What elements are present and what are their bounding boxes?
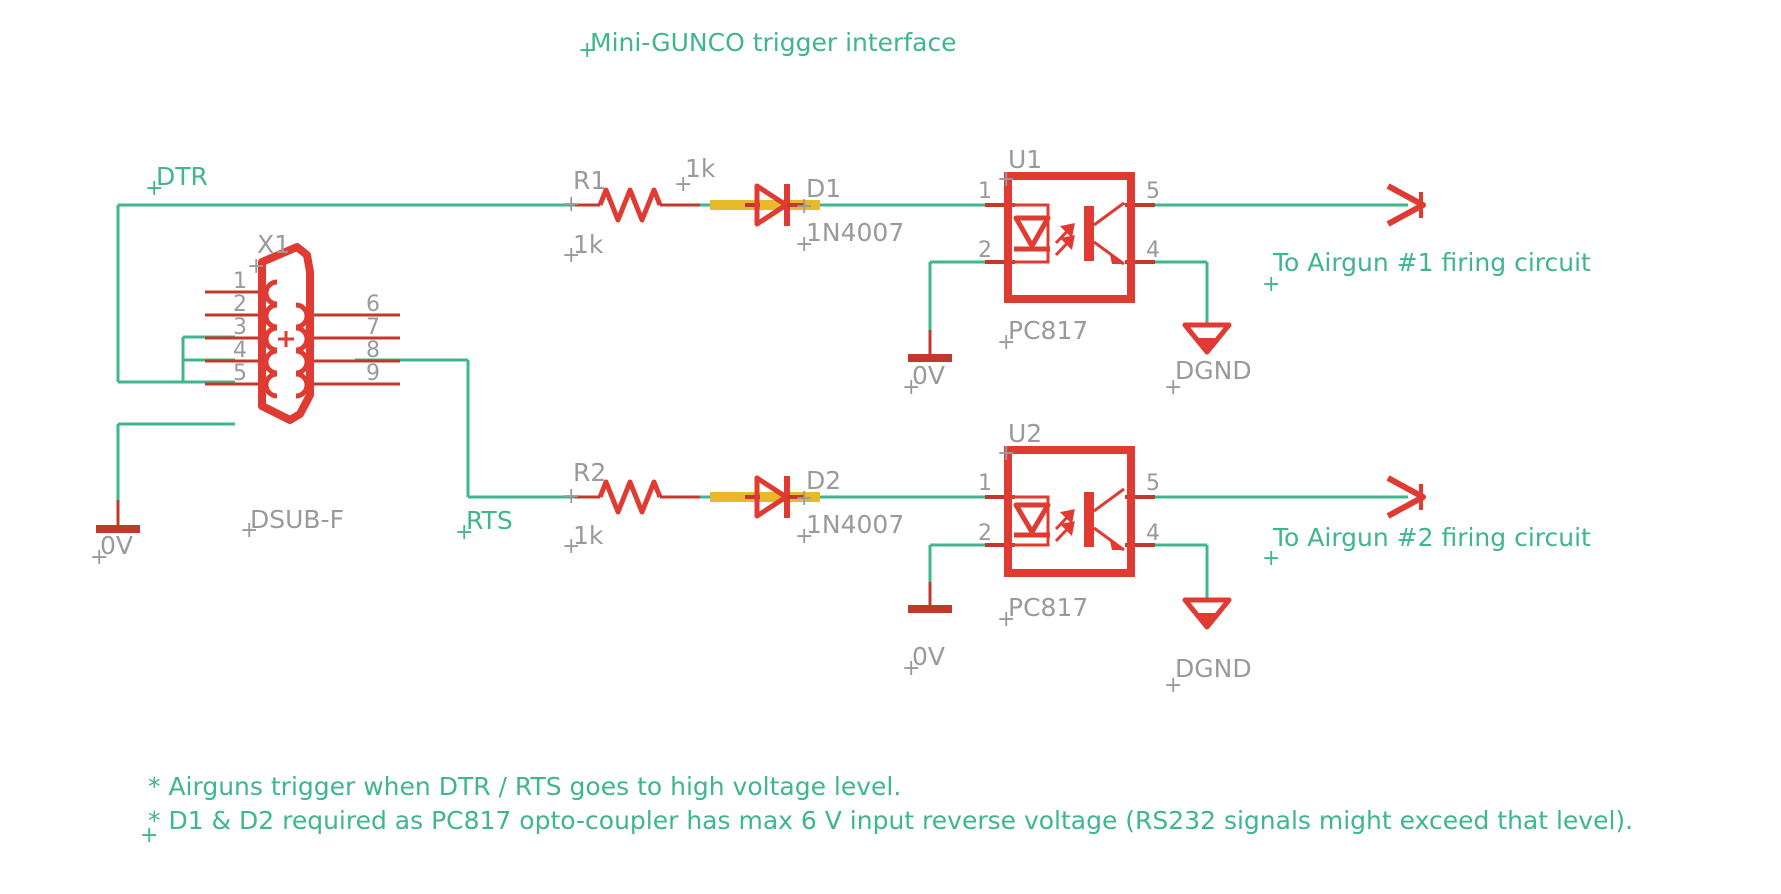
r1-anchor-marker: + — [562, 192, 580, 217]
u1-pin-1-number: 1 — [978, 181, 992, 203]
optocoupler-u2[interactable] — [985, 450, 1155, 573]
d2-value[interactable]: 1N4007 — [806, 512, 904, 537]
u2-value[interactable]: PC817 — [1008, 595, 1088, 620]
x1-pin-4: 4 — [233, 340, 247, 362]
u1-value[interactable]: PC817 — [1008, 318, 1088, 343]
x1-pin-2: 2 — [233, 294, 247, 316]
gnd-symbol-u1[interactable] — [908, 330, 952, 358]
r2-value[interactable]: 1k — [573, 523, 603, 548]
r2-anchor-marker: + — [562, 484, 580, 509]
net-label-gnd-left[interactable]: 0V — [100, 533, 133, 558]
net-label-out1[interactable]: To Airgun #1 firing circuit — [1273, 250, 1591, 275]
schematic-sheet: + Mini-GUNCO trigger interface + DTR + R… — [0, 0, 1781, 894]
u1-led-triangle — [1016, 218, 1048, 246]
r2-reference[interactable]: R2 — [573, 460, 606, 485]
u2-led-triangle — [1016, 505, 1048, 532]
x1-pin-1: 1 — [233, 271, 247, 293]
r2-zigzag — [600, 482, 660, 512]
u1-light-arrows — [1056, 225, 1073, 255]
gnd-symbol-u2[interactable] — [908, 582, 952, 609]
gnd-symbol-left[interactable] — [96, 500, 140, 529]
u1-reference[interactable]: U1 — [1008, 147, 1042, 172]
r1-reference[interactable]: R1 — [573, 168, 606, 193]
u1-emitter — [1094, 242, 1124, 264]
d1-reference[interactable]: D1 — [806, 176, 841, 201]
x1-pin-8: 8 — [366, 340, 380, 362]
x1-pin-leads-right — [310, 315, 400, 384]
note-line-2: * D1 & D2 required as PC817 opto-coupler… — [148, 808, 1633, 833]
net-label-rts[interactable]: RTS — [466, 508, 513, 533]
x1-reference[interactable]: X1 — [257, 232, 290, 257]
u2-transistor-base — [1084, 492, 1094, 547]
u1-transistor-base — [1084, 206, 1094, 261]
net-label-dgnd-u1[interactable]: DGND — [1175, 358, 1252, 383]
u2-emitter — [1094, 528, 1124, 550]
dgnd-symbol-u1[interactable] — [1185, 325, 1229, 352]
x1-pin-7: 7 — [366, 317, 380, 339]
d2-reference[interactable]: D2 — [806, 468, 841, 493]
optocoupler-u1[interactable] — [985, 176, 1155, 299]
x1-sockets-right — [296, 305, 307, 396]
u2-pin-4-number: 4 — [1146, 523, 1160, 545]
u2-pin-2-number: 2 — [978, 523, 992, 545]
dgnd-symbol-u2[interactable] — [1185, 600, 1229, 627]
r1-value[interactable]: 1k — [573, 232, 603, 257]
x1-center-mark — [278, 331, 294, 347]
net-label-gnd-u2[interactable]: 0V — [912, 644, 945, 669]
r1-net-label[interactable]: 1k — [685, 156, 715, 181]
u1-pin-2-number: 2 — [978, 240, 992, 262]
x1-sockets-left — [266, 282, 277, 396]
x1-pin-6: 6 — [366, 294, 380, 316]
u1-collector — [1094, 203, 1124, 225]
schematic-canvas — [0, 0, 1781, 894]
u1-pin-5-number: 5 — [1146, 181, 1160, 203]
x1-value[interactable]: DSUB-F — [250, 507, 344, 532]
d1-value[interactable]: 1N4007 — [806, 220, 904, 245]
x1-pin-5: 5 — [233, 363, 247, 385]
net-label-dtr[interactable]: DTR — [156, 164, 208, 189]
x1-pin-3: 3 — [233, 317, 247, 339]
u2-reference[interactable]: U2 — [1008, 421, 1042, 446]
net-label-out2[interactable]: To Airgun #2 firing circuit — [1273, 525, 1591, 550]
u1-pin-4-number: 4 — [1146, 240, 1160, 262]
net-label-gnd-u1[interactable]: 0V — [912, 363, 945, 388]
r1-zigzag — [600, 190, 660, 220]
net-label-dgnd-u2[interactable]: DGND — [1175, 656, 1252, 681]
u2-collector — [1094, 489, 1124, 511]
page-title: Mini-GUNCO trigger interface — [590, 30, 957, 55]
u2-light-arrows — [1056, 511, 1073, 541]
note-line-1: * Airguns trigger when DTR / RTS goes to… — [148, 774, 901, 799]
u2-pin-5-number: 5 — [1146, 473, 1160, 495]
x1-pin-9: 9 — [366, 363, 380, 385]
u2-pin-1-number: 1 — [978, 473, 992, 495]
